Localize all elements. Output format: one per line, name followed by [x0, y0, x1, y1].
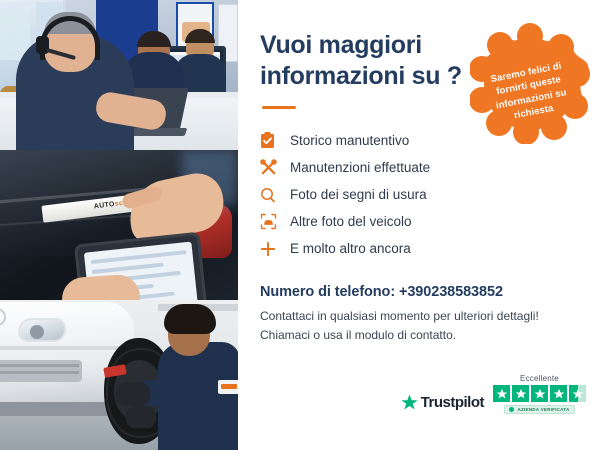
star-filled-4 [550, 385, 567, 402]
magnifier-icon [260, 187, 286, 203]
verified-business-badge: AZIENDA VERIFICATA [504, 405, 574, 414]
trustpilot-logo: Trustpilot [401, 394, 484, 414]
trustpilot-widget[interactable]: Trustpilot Eccellente [401, 374, 586, 414]
scan-vehicle-icon [260, 213, 286, 230]
phone-number[interactable]: Numero di telefono: +390238583852 [260, 284, 574, 300]
star-filled-3 [531, 385, 548, 402]
clipboard-check-icon [260, 132, 286, 149]
headset-icon [457, 22, 483, 46]
photo-mechanic-wheel-inspection-garage [0, 300, 238, 450]
feature-item-manutenzioni-effettuate: Manutenzioni effettuate [260, 154, 574, 181]
callout-badge: Saremo felici di fornirti queste informa… [470, 22, 590, 144]
trustpilot-name: Trustpilot [421, 394, 484, 411]
page-title: Vuoi maggiori informazioni su ? [260, 30, 475, 92]
star-half-5 [569, 385, 586, 402]
feature-label: Altre foto del veicolo [286, 214, 412, 229]
photo-vehicle-body-inspection-tablet: AUTOscout [0, 150, 238, 300]
contact-info-banner: AUTOscout Vuoi maggiori informazioni su … [0, 0, 600, 450]
feature-item-altre-foto-veicolo: Altre foto del veicolo [260, 208, 574, 235]
star-filled-1 [493, 385, 510, 402]
feature-item-foto-segni-usura: Foto dei segni di usura [260, 181, 574, 208]
contact-hint-line-2: Chiamaci o usa il modulo di contatto. [260, 326, 574, 345]
feature-item-molto-altro: E molto altro ancora [260, 235, 574, 262]
trustpilot-stars [493, 385, 586, 402]
feature-label: Foto dei segni di usura [286, 187, 427, 202]
trustpilot-rating-label: Eccellente [520, 374, 559, 383]
verified-check-icon [509, 407, 514, 412]
trustpilot-star-icon [401, 394, 418, 411]
feature-list: Storico manutentivo Manutenzioni effettu… [260, 127, 574, 262]
tools-cross-icon [260, 159, 286, 176]
photo-call-center-agents-headset [0, 0, 238, 150]
plus-icon [260, 241, 286, 257]
content-panel: Vuoi maggiori informazioni su ? [238, 0, 600, 450]
phone-block: Numero di telefono: +390238583852 Contat… [260, 284, 574, 346]
feature-label: E molto altro ancora [286, 241, 411, 256]
verified-label: AZIENDA VERIFICATA [517, 407, 569, 412]
contact-hint-line-1: Contattaci in qualsiasi momento per ulte… [260, 307, 574, 326]
feature-label: Storico manutentivo [286, 133, 409, 148]
star-filled-2 [512, 385, 529, 402]
title-divider [262, 106, 296, 109]
photo-strip: AUTOscout [0, 0, 238, 450]
feature-label: Manutenzioni effettuate [286, 160, 430, 175]
